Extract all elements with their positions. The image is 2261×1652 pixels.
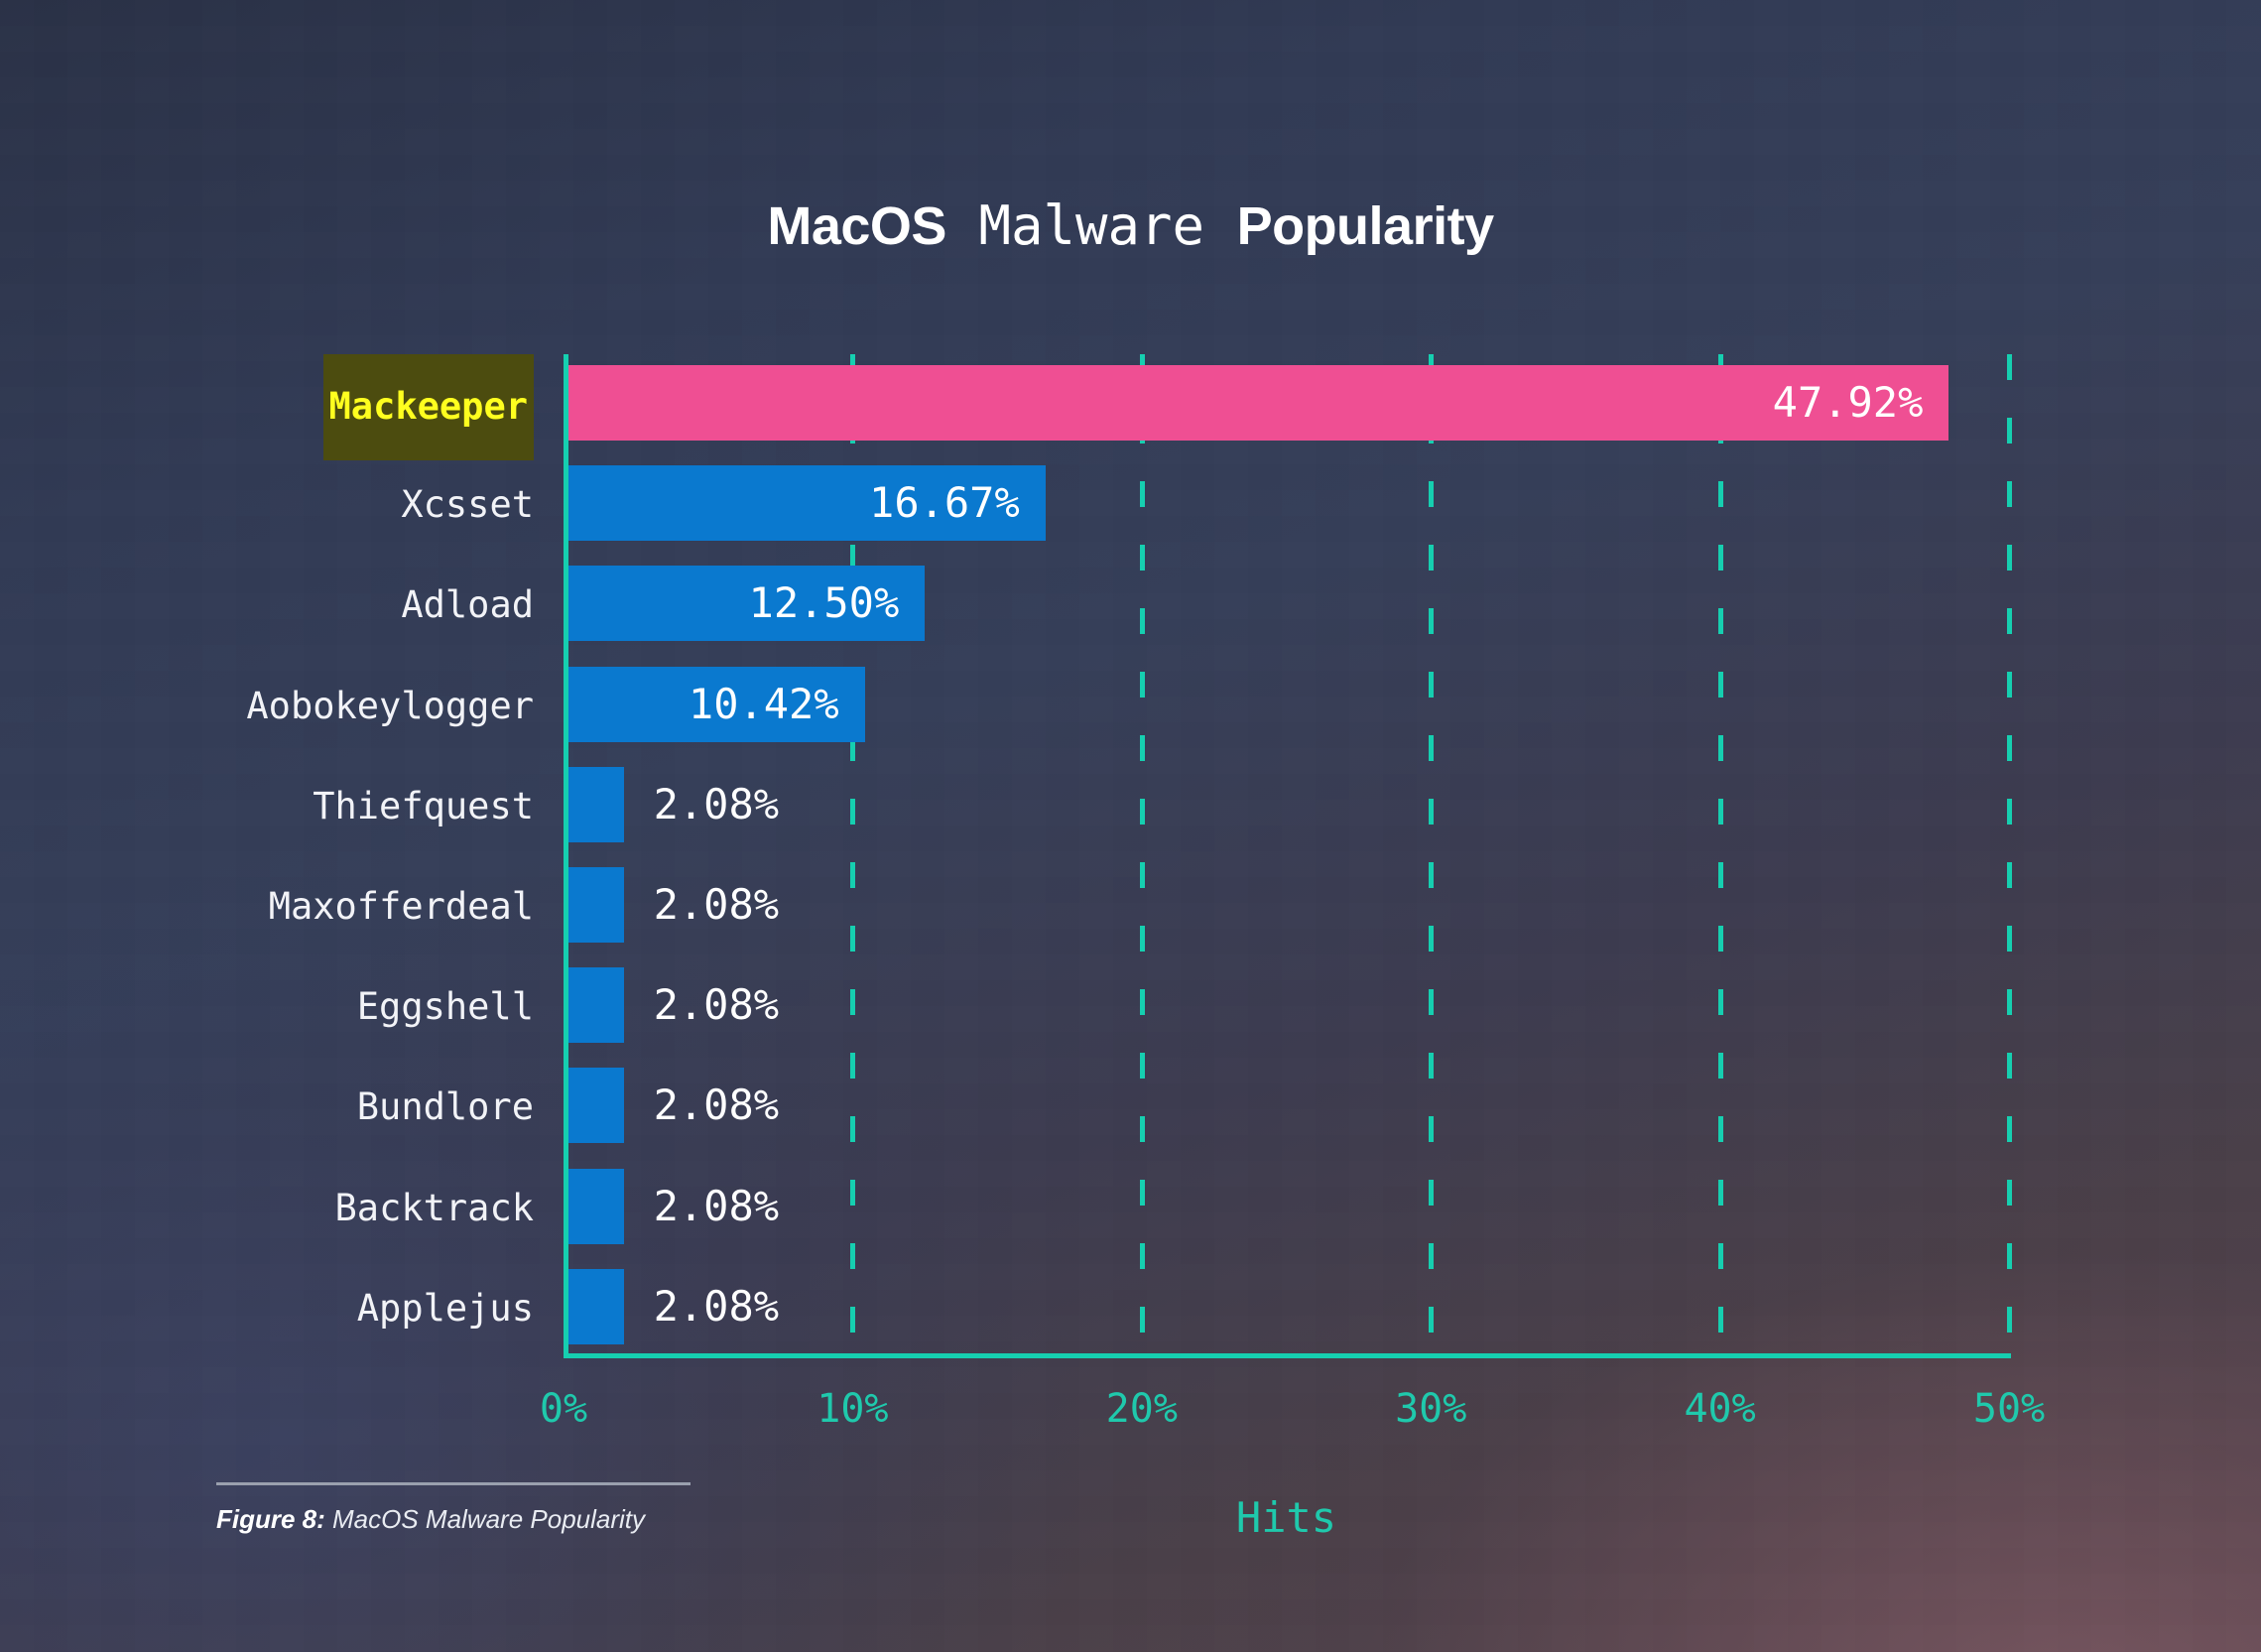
- category-label-text: Mackeeper: [323, 354, 534, 460]
- bar-eggshell[interactable]: [564, 967, 624, 1043]
- chart-title-space-1: [946, 194, 979, 257]
- chart-title-part-2: Malware: [978, 194, 1204, 257]
- x-tick-50: 50%: [1973, 1385, 2045, 1433]
- bar-row[interactable]: 2.08%: [564, 856, 2009, 956]
- y-axis-category-labels: MackeeperXcssetAdloadAobokeyloggerThiefq…: [0, 354, 534, 1358]
- chart-title-part-3: Popularity: [1237, 196, 1494, 256]
- category-label-text: Bundlore: [357, 1057, 534, 1157]
- bar-row[interactable]: 47.92%: [564, 354, 2009, 454]
- bar-value-label: 2.08%: [654, 1269, 779, 1344]
- category-label-text: Eggshell: [357, 956, 534, 1057]
- bar-row[interactable]: 2.08%: [564, 956, 2009, 1057]
- bar-value-label: 2.08%: [654, 767, 779, 842]
- figure-caption: Figure 8: MacOS Malware Popularity: [216, 1482, 970, 1535]
- bar-row[interactable]: 2.08%: [564, 1057, 2009, 1157]
- bar-value-label: 12.50%: [564, 566, 925, 641]
- bar-row[interactable]: 2.08%: [564, 756, 2009, 856]
- bar-value-label: 2.08%: [654, 1169, 779, 1244]
- bar-thiefquest[interactable]: [564, 767, 624, 842]
- category-label-aobokeylogger[interactable]: Aobokeylogger: [0, 656, 534, 756]
- x-axis-title-text: Hits: [1236, 1493, 1336, 1542]
- bar-value-label: 2.08%: [654, 967, 779, 1043]
- x-axis-line: [564, 1353, 2011, 1358]
- bar-value-label: 10.42%: [564, 667, 865, 742]
- bar-row[interactable]: 2.08%: [564, 1158, 2009, 1258]
- category-label-thiefquest[interactable]: Thiefquest: [0, 756, 534, 856]
- chart-title-part-1: MacOS: [767, 196, 946, 256]
- bar-bundlore[interactable]: [564, 1068, 624, 1143]
- category-label-backtrack[interactable]: Backtrack: [0, 1158, 534, 1258]
- x-tick-30: 30%: [1395, 1385, 1466, 1433]
- caption-figure-description: MacOS Malware Popularity: [325, 1504, 645, 1534]
- bar-row[interactable]: 2.08%: [564, 1258, 2009, 1358]
- category-label-eggshell[interactable]: Eggshell: [0, 956, 534, 1057]
- y-axis-line: [564, 354, 568, 1358]
- category-label-text: Maxofferdeal: [269, 856, 534, 956]
- bar-row[interactable]: 12.50%: [564, 555, 2009, 655]
- category-label-applejus[interactable]: Applejus: [0, 1258, 534, 1358]
- x-tick-10: 10%: [816, 1385, 888, 1433]
- category-label-text: Adload: [401, 555, 534, 655]
- category-label-text: Xcsset: [401, 454, 534, 555]
- category-label-mackeeper[interactable]: Mackeeper: [0, 354, 534, 454]
- category-label-bundlore[interactable]: Bundlore: [0, 1057, 534, 1157]
- bar-value-label: 16.67%: [564, 465, 1046, 541]
- bar-row[interactable]: 16.67%: [564, 454, 2009, 555]
- chart-title-space-2: [1204, 194, 1237, 257]
- category-label-text: Backtrack: [335, 1158, 534, 1258]
- category-label-text: Applejus: [357, 1258, 534, 1358]
- x-tick-40: 40%: [1684, 1385, 1755, 1433]
- bar-value-label: 2.08%: [654, 867, 779, 943]
- category-label-text: Aobokeylogger: [246, 656, 534, 756]
- figure-page: MacOS Malware Popularity Malware Family …: [0, 0, 2261, 1652]
- category-label-maxofferdeal[interactable]: Maxofferdeal: [0, 856, 534, 956]
- bar-value-label: 2.08%: [654, 1068, 779, 1143]
- category-label-xcsset[interactable]: Xcsset: [0, 454, 534, 555]
- bar-applejus[interactable]: [564, 1269, 624, 1344]
- x-tick-0: 0%: [540, 1385, 587, 1433]
- x-tick-20: 20%: [1106, 1385, 1178, 1433]
- caption-text: Figure 8: MacOS Malware Popularity: [216, 1503, 970, 1535]
- bar-backtrack[interactable]: [564, 1169, 624, 1244]
- bar-row[interactable]: 10.42%: [564, 656, 2009, 756]
- chart-title: MacOS Malware Popularity: [0, 194, 2261, 258]
- category-label-adload[interactable]: Adload: [0, 555, 534, 655]
- bar-maxofferdeal[interactable]: [564, 867, 624, 943]
- bar-value-label: 47.92%: [564, 365, 1948, 441]
- category-label-text: Thiefquest: [313, 756, 534, 856]
- caption-divider: [216, 1482, 691, 1485]
- caption-figure-number: Figure 8:: [216, 1504, 325, 1534]
- plot-area: 47.92%16.67%12.50%10.42%2.08%2.08%2.08%2…: [564, 354, 2009, 1358]
